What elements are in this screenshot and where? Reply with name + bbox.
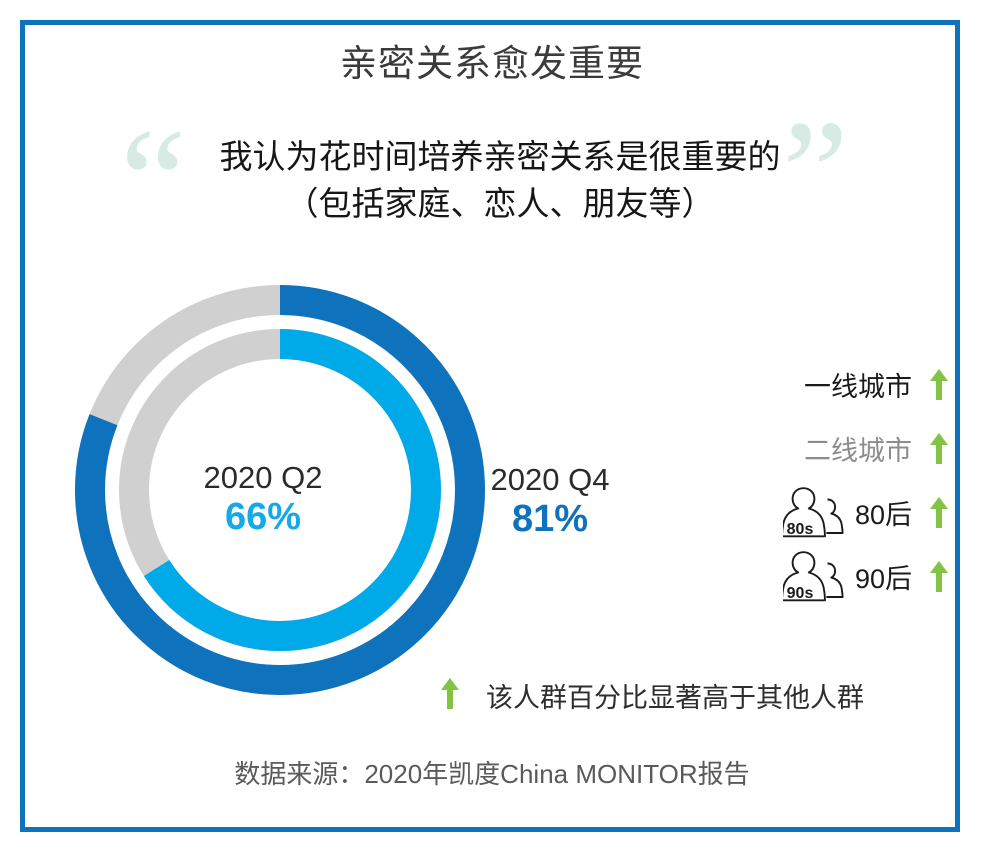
up-arrow-icon <box>928 367 950 401</box>
footnote-text: 该人群百分比显著高于其他人群 <box>486 676 864 715</box>
page-title: 亲密关系愈发重要 <box>0 44 984 85</box>
center-value-2020q2: 66% <box>148 496 378 540</box>
legend-item-90s-generation-label: 90后 <box>855 557 912 596</box>
center-label-2020q4-text: 2020 Q4 <box>440 462 660 498</box>
data-source-text: 数据来源：2020年凯度China MONITOR报告 <box>0 754 984 791</box>
footnote: 该人群百分比显著高于其他人群 <box>440 676 864 715</box>
legend-item-tier2-city-label: 二线城市 <box>804 429 912 468</box>
quote-line-2: （包括家庭、恋人、朋友等） <box>110 181 890 228</box>
quote-text: 我认为花时间培养亲密关系是很重要的 （包括家庭、恋人、朋友等） <box>110 134 890 228</box>
legend-item-tier2-city: 二线城市 <box>735 416 950 480</box>
people-icon-90s: 90s <box>783 550 849 602</box>
people-icon-80s: 80s <box>783 486 849 538</box>
center-label-2020q2: 2020 Q2 66% <box>148 460 378 539</box>
quote-block: “ ” 我认为花时间培养亲密关系是很重要的 （包括家庭、恋人、朋友等） <box>110 128 890 258</box>
people-icon-90s-caption: 90s <box>787 585 814 602</box>
center-label-2020q4: 2020 Q4 81% <box>440 462 660 541</box>
up-arrow-icon <box>440 676 460 715</box>
people-icon-80s-caption: 80s <box>787 521 814 538</box>
center-label-2020q2-text: 2020 Q2 <box>148 460 378 496</box>
slide-canvas: 亲密关系愈发重要 “ ” 我认为花时间培养亲密关系是很重要的 （包括家庭、恋人、… <box>0 0 984 856</box>
up-arrow-icon <box>928 495 950 529</box>
legend-item-80s-generation-label: 80后 <box>855 493 912 532</box>
legend-item-80s-generation: 80s 80后 <box>735 480 950 544</box>
legend-item-tier1-city-label: 一线城市 <box>804 365 912 404</box>
quote-line-1: 我认为花时间培养亲密关系是很重要的 <box>110 134 890 181</box>
segment-legend: 一线城市 二线城市 80s <box>735 352 950 608</box>
center-value-2020q4: 81% <box>440 498 660 542</box>
legend-item-90s-generation: 90s 90后 <box>735 544 950 608</box>
up-arrow-icon <box>928 431 950 465</box>
legend-item-tier1-city: 一线城市 <box>735 352 950 416</box>
up-arrow-icon <box>928 559 950 593</box>
